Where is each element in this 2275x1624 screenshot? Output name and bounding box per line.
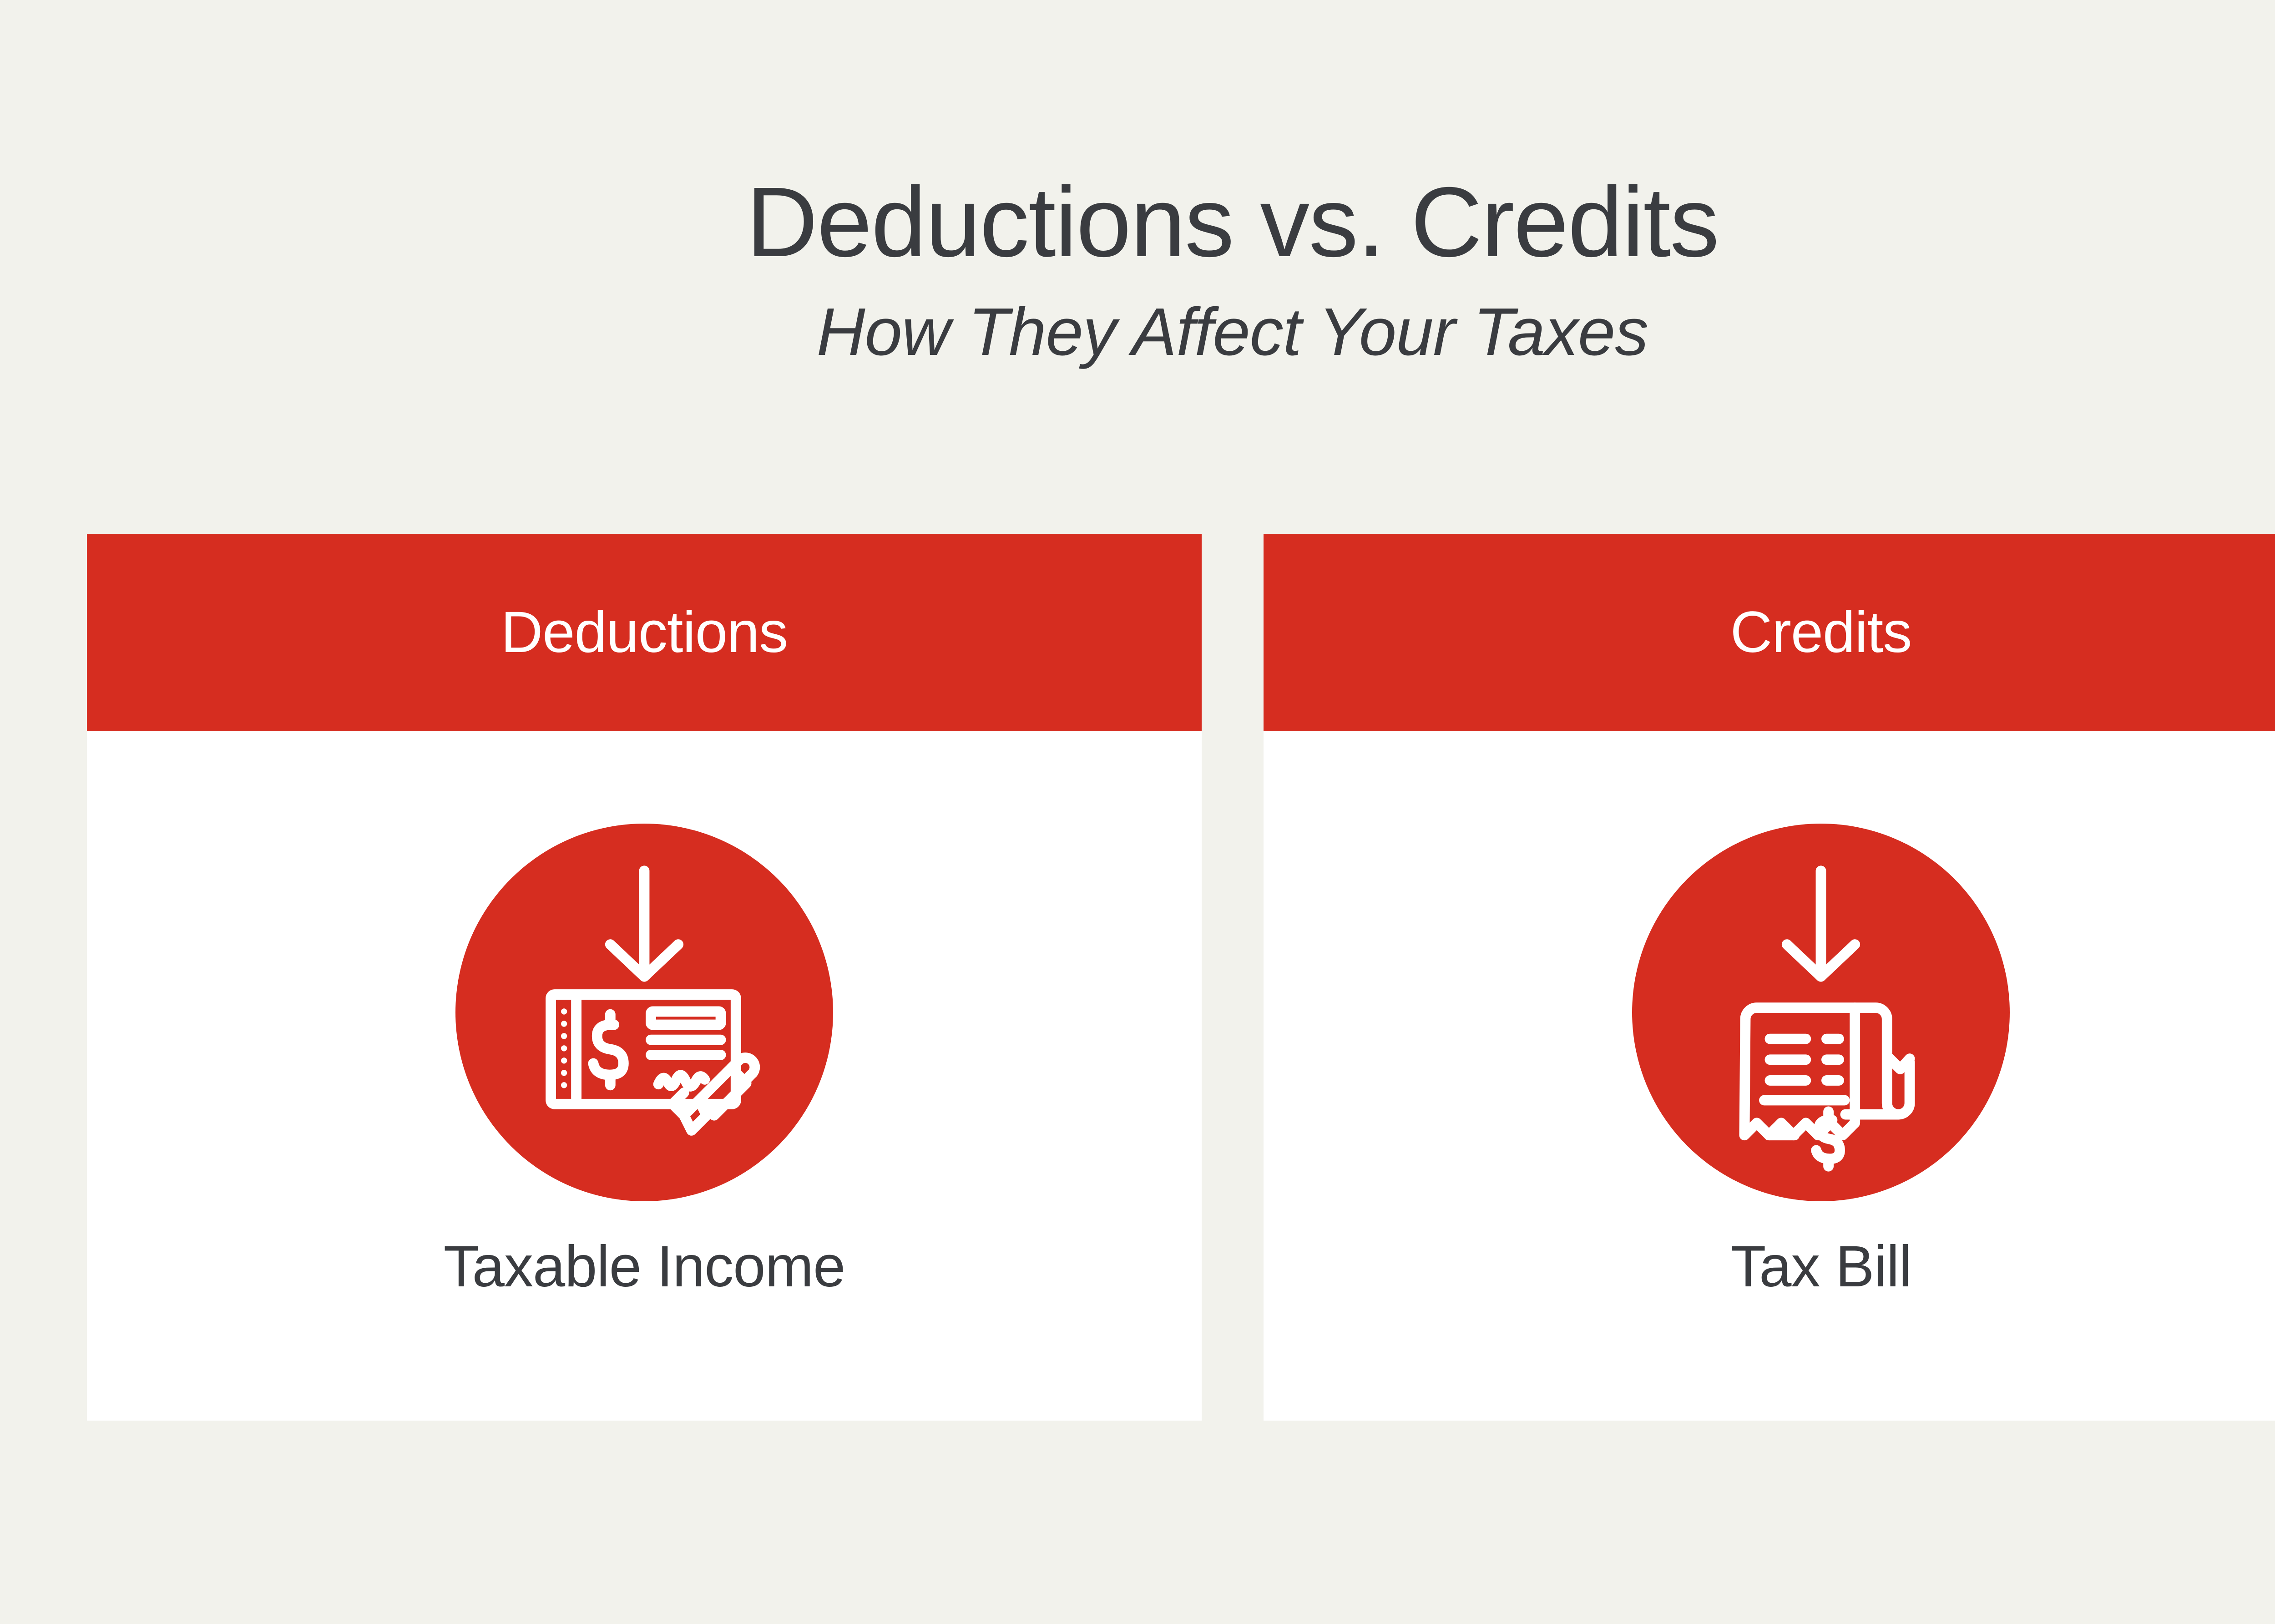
card-body-credits: Tax Bill [1264, 731, 2275, 1421]
card-header-label-credits: Credits [1730, 603, 1911, 662]
icon-badge-deductions [455, 824, 833, 1201]
card-deductions: Deductions [87, 534, 1202, 1421]
receipt-down-arrow-icon [1632, 824, 2010, 1201]
card-credits: Credits [1264, 534, 2275, 1421]
icon-badge-credits [1632, 824, 2010, 1201]
heading-block: Deductions vs. Credits How They Affect Y… [0, 173, 2275, 366]
card-header-label-deductions: Deductions [501, 603, 788, 662]
card-caption-tax-bill: Tax Bill [1730, 1238, 1911, 1296]
page-subtitle: How They Affect Your Taxes [0, 272, 2275, 366]
card-header-deductions: Deductions [87, 534, 1202, 731]
page-title: Deductions vs. Credits [0, 173, 2275, 272]
check-with-pencil-down-arrow-icon [455, 824, 833, 1201]
card-header-credits: Credits [1264, 534, 2275, 731]
infographic-canvas: Deductions vs. Credits How They Affect Y… [0, 0, 2275, 1624]
card-body-deductions: Taxable Income [87, 731, 1202, 1421]
card-caption-taxable-income: Taxable Income [444, 1238, 845, 1296]
